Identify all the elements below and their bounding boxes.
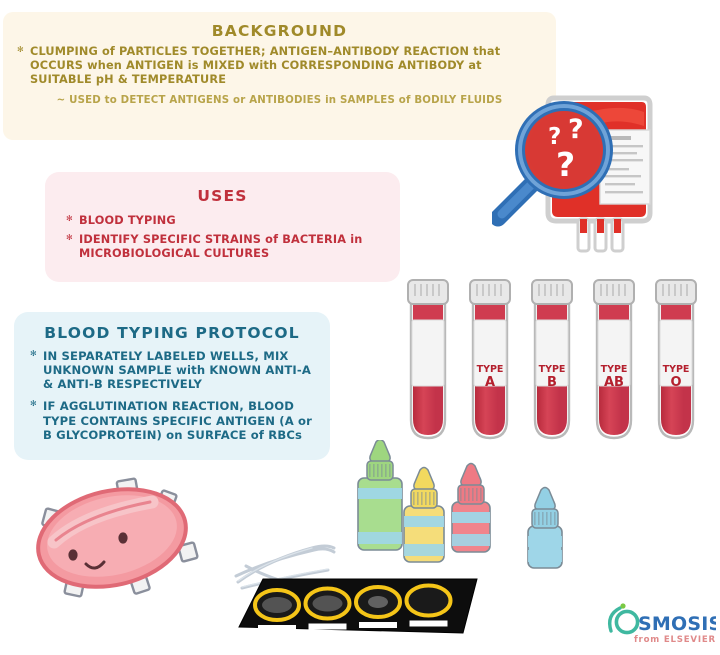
test-tube-O: TYPEO [656,280,696,438]
tube-type-letter: AB [604,375,624,390]
background-heading: BACKGROUND [17,22,542,40]
dropper-bottle-green [358,440,402,550]
blood-bag-ports [578,219,623,251]
uses-bullet-0: BLOOD TYPING [66,214,386,228]
blood-bag-with-magnifier: ? ? ? [492,86,707,266]
agglutination-clump [262,597,292,613]
red-blood-cell-character [20,466,235,636]
background-subnote: ~ USED to DETECT ANTIGENS or ANTIBODIES … [17,95,542,106]
uses-bullet-list: BLOOD TYPING IDENTIFY SPECIFIC STRAINS o… [59,214,386,260]
logo-o-ring [616,611,637,632]
protocol-heading: BLOOD TYPING PROTOCOL [28,324,316,342]
question-mark-3: ? [556,145,575,184]
dropper-bottle-blue [528,488,562,569]
well-label-strip [410,621,448,627]
protocol-panel: BLOOD TYPING PROTOCOL IN SEPARATELY LABE… [14,312,330,460]
test-tube-B: TYPEB [532,280,572,438]
tube-type-letter: O [670,375,681,390]
uses-heading: USES [59,187,386,205]
test-tube-blank [408,280,448,438]
question-mark-2: ? [568,114,584,145]
agglutination-clump [313,596,343,612]
test-tube-rack: TYPEATYPEBTYPEABTYPEO [404,276,716,458]
protocol-bullet-0: IN SEPARATELY LABELED WELLS, MIX UNKNOWN… [30,349,316,391]
test-tube-A: TYPEA [470,280,510,438]
tube-type-word: TYPE [663,364,690,375]
protocol-bullet-list: IN SEPARATELY LABELED WELLS, MIX UNKNOWN… [28,349,316,442]
bottle-cap [461,464,481,487]
test-tube-AB: TYPEAB [594,280,634,438]
bottle-cap [535,488,555,511]
tube-type-word: TYPE [477,364,504,375]
bottle-cap [370,440,390,462]
dropper-bottle-yellow [404,468,444,563]
background-bullet-0: CLUMPING of PARTICLES TOGETHER; ANTIGEN–… [17,45,542,86]
bottle-cap [414,468,434,491]
tube-type-letter: A [485,375,495,390]
dropper-bottle-pink [452,464,490,553]
uses-bullet-1: IDENTIFY SPECIFIC STRAINS of BACTERIA in… [66,233,386,261]
agglutination-clump [368,596,388,608]
logo-brand: SMOSIS [638,613,716,635]
leaf-dot-icon [620,603,625,608]
agglutination-test-plate [225,565,495,645]
tube-label-surface [412,320,444,386]
uses-panel: USES BLOOD TYPING IDENTIFY SPECIFIC STRA… [45,172,400,282]
well-label-strip [359,622,397,628]
tube-type-word: TYPE [601,364,628,375]
well-label-strip [258,625,296,631]
background-bullet-list: CLUMPING of PARTICLES TOGETHER; ANTIGEN–… [17,45,542,86]
protocol-bullet-1: IF AGGLUTINATION REACTION, BLOOD TYPE CO… [30,399,316,441]
logo-tagline: from ELSEVIER [634,635,716,645]
tube-type-word: TYPE [539,364,566,375]
poster-canvas: BACKGROUND CLUMPING of PARTICLES TOGETHE… [0,0,720,655]
background-panel: BACKGROUND CLUMPING of PARTICLES TOGETHE… [3,12,556,140]
osmosis-logo: SMOSIS from ELSEVIER [600,601,716,645]
tube-type-letter: B [547,375,557,390]
well-label-strip [309,624,347,630]
